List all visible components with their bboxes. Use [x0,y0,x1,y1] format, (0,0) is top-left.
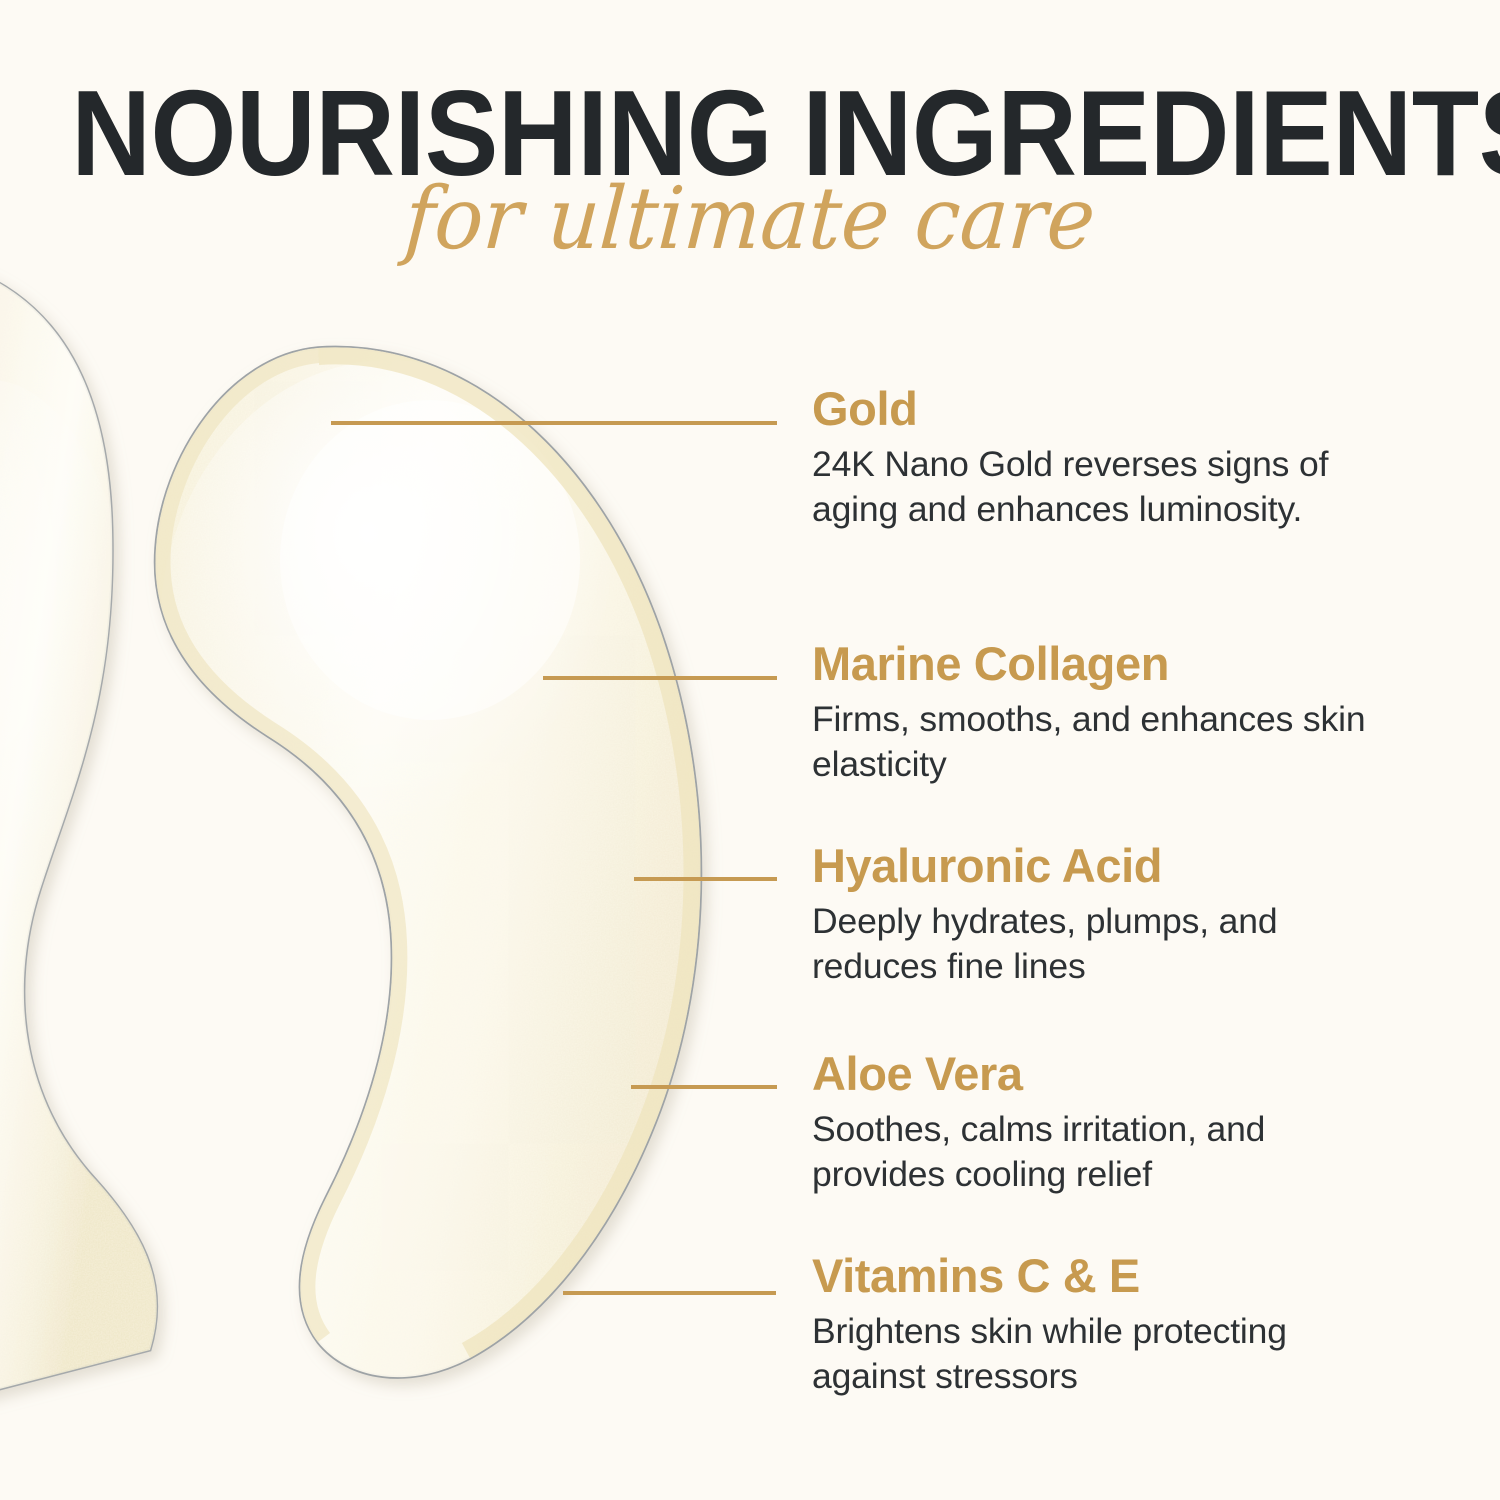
ingredient-description-vitamins-c-and-e: Brightens skin while protecting against … [812,1309,1372,1398]
ingredient-name-hyaluronic-acid: Hyaluronic Acid [812,842,1412,890]
ingredient-description-gold: 24K Nano Gold reverses signs of aging an… [812,442,1372,531]
ingredient-list: Gold 24K Nano Gold reverses signs of agi… [0,0,1500,1500]
ingredient-name-gold: Gold [812,385,1412,433]
ingredient-item-aloe-vera: Aloe Vera Soothes, calms irritation, and… [812,1050,1412,1196]
ingredient-name-aloe-vera: Aloe Vera [812,1050,1412,1098]
ingredient-description-hyaluronic-acid: Deeply hydrates, plumps, and reduces fin… [812,899,1372,988]
ingredient-item-hyaluronic-acid: Hyaluronic Acid Deeply hydrates, plumps,… [812,842,1412,988]
ingredient-description-collagen: Firms, smooths, and enhances skin elasti… [812,697,1372,786]
ingredient-description-aloe-vera: Soothes, calms irritation, and provides … [812,1107,1372,1196]
ingredient-item-collagen: Marine Collagen Firms, smooths, and enha… [812,640,1412,786]
ingredient-item-gold: Gold 24K Nano Gold reverses signs of agi… [812,385,1412,531]
ingredient-item-vitamins-c-and-e: Vitamins C & E Brightens skin while prot… [812,1252,1412,1398]
ingredient-name-collagen: Marine Collagen [812,640,1412,688]
ingredients-infographic: NOURISHING INGREDIENTS for ultimate care [0,0,1500,1500]
ingredient-name-vitamins-c-and-e: Vitamins C & E [812,1252,1412,1300]
